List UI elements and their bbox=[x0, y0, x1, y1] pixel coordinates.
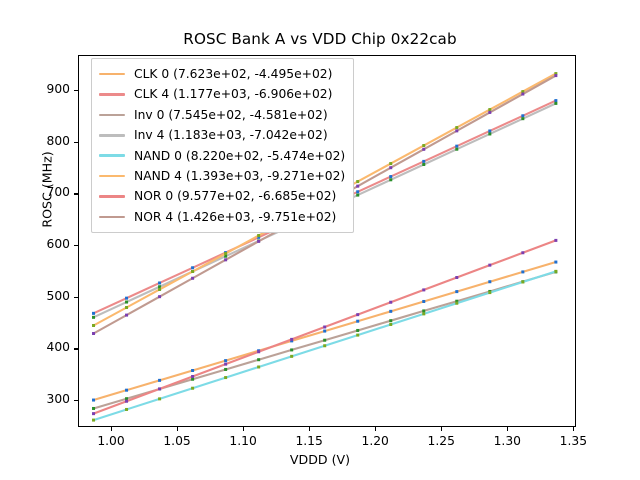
data-point-marker bbox=[389, 175, 392, 178]
data-point-marker bbox=[125, 408, 128, 411]
legend-color-swatch bbox=[99, 114, 125, 117]
data-point-marker bbox=[422, 148, 425, 151]
y-tick-label: 300 bbox=[24, 392, 70, 406]
data-point-marker bbox=[422, 160, 425, 163]
legend-color-swatch bbox=[99, 134, 125, 137]
data-point-marker bbox=[488, 108, 491, 111]
data-point-marker bbox=[191, 375, 194, 378]
data-point-marker bbox=[92, 324, 95, 327]
data-point-marker bbox=[488, 129, 491, 132]
data-point-marker bbox=[92, 407, 95, 410]
data-point-marker bbox=[389, 178, 392, 181]
legend-color-swatch bbox=[99, 195, 125, 198]
legend-item-nor-0[interactable]: NOR 0 (9.577e+02, -6.685e+02) bbox=[99, 186, 345, 206]
data-point-marker bbox=[191, 378, 194, 381]
x-tick-label: 1.15 bbox=[281, 434, 337, 448]
legend-item-inv-4[interactable]: Inv 4 (1.183e+03, -7.042e+02) bbox=[99, 125, 345, 145]
y-tick-label: 800 bbox=[24, 134, 70, 148]
x-tick-label: 1.25 bbox=[413, 434, 469, 448]
data-point-marker bbox=[92, 412, 95, 415]
data-point-marker bbox=[455, 276, 458, 279]
data-point-marker bbox=[257, 240, 260, 243]
data-point-marker bbox=[323, 339, 326, 342]
data-point-marker bbox=[323, 344, 326, 347]
data-point-marker bbox=[158, 281, 161, 284]
legend-label: NAND 0 (8.220e+02, -5.474e+02) bbox=[134, 150, 345, 162]
data-point-marker bbox=[257, 365, 260, 368]
data-point-marker bbox=[323, 325, 326, 328]
data-point-marker bbox=[224, 368, 227, 371]
data-point-marker bbox=[521, 93, 524, 96]
data-point-marker bbox=[92, 332, 95, 335]
data-point-marker bbox=[92, 312, 95, 315]
data-point-marker bbox=[422, 309, 425, 312]
y-tick-label: 500 bbox=[24, 289, 70, 303]
data-point-marker bbox=[488, 264, 491, 267]
x-tick-label: 1.10 bbox=[215, 434, 271, 448]
data-point-marker bbox=[521, 114, 524, 117]
data-point-marker bbox=[488, 111, 491, 114]
data-point-marker bbox=[422, 144, 425, 147]
legend-label: CLK 4 (1.177e+03, -6.906e+02) bbox=[134, 88, 332, 100]
data-point-marker bbox=[356, 320, 359, 323]
data-point-marker bbox=[554, 239, 557, 242]
data-point-marker bbox=[389, 162, 392, 165]
legend-item-inv-0[interactable]: Inv 0 (7.545e+02, -4.581e+02) bbox=[99, 105, 345, 125]
legend-label: NAND 4 (1.393e+03, -9.271e+02) bbox=[134, 170, 345, 182]
legend-item-clk-0[interactable]: CLK 0 (7.623e+02, -4.495e+02) bbox=[99, 64, 345, 84]
data-point-marker bbox=[422, 300, 425, 303]
data-point-marker bbox=[158, 295, 161, 298]
data-point-marker bbox=[521, 270, 524, 273]
data-point-marker bbox=[125, 297, 128, 300]
legend-item-nor-4[interactable]: NOR 4 (1.426e+03, -9.751e+02) bbox=[99, 207, 345, 227]
data-point-marker bbox=[224, 359, 227, 362]
data-point-marker bbox=[356, 334, 359, 337]
data-point-marker bbox=[125, 400, 128, 403]
data-point-marker bbox=[521, 117, 524, 120]
data-point-marker bbox=[125, 389, 128, 392]
series-nor-0 bbox=[92, 239, 557, 415]
x-axis-label: VDDD (V) bbox=[0, 452, 640, 467]
x-tick-label: 1.05 bbox=[149, 434, 205, 448]
data-point-marker bbox=[488, 280, 491, 283]
data-point-marker bbox=[488, 132, 491, 135]
legend-color-swatch bbox=[99, 216, 125, 219]
data-point-marker bbox=[356, 190, 359, 193]
legend-color-swatch bbox=[99, 175, 125, 178]
series-nand-0 bbox=[92, 270, 557, 422]
data-point-marker bbox=[554, 74, 557, 77]
data-point-marker bbox=[257, 358, 260, 361]
data-point-marker bbox=[191, 387, 194, 390]
data-point-marker bbox=[422, 163, 425, 166]
data-point-marker bbox=[455, 145, 458, 148]
y-tick-label: 400 bbox=[24, 340, 70, 354]
data-point-marker bbox=[158, 288, 161, 291]
data-point-marker bbox=[224, 258, 227, 261]
data-point-marker bbox=[125, 301, 128, 304]
data-point-marker bbox=[257, 350, 260, 353]
data-point-marker bbox=[224, 363, 227, 366]
data-point-marker bbox=[191, 266, 194, 269]
data-point-marker bbox=[389, 323, 392, 326]
data-point-marker bbox=[455, 129, 458, 132]
chart-legend: CLK 0 (7.623e+02, -4.495e+02)CLK 4 (1.17… bbox=[91, 58, 354, 233]
data-point-marker bbox=[158, 379, 161, 382]
data-point-marker bbox=[389, 310, 392, 313]
data-point-marker bbox=[290, 355, 293, 358]
data-point-marker bbox=[554, 99, 557, 102]
data-point-marker bbox=[554, 102, 557, 105]
y-tick-label: 700 bbox=[24, 185, 70, 199]
legend-label: Inv 0 (7.545e+02, -4.581e+02) bbox=[134, 109, 328, 121]
legend-label: CLK 0 (7.623e+02, -4.495e+02) bbox=[134, 68, 332, 80]
data-point-marker bbox=[290, 338, 293, 341]
data-point-marker bbox=[158, 397, 161, 400]
data-point-marker bbox=[191, 270, 194, 273]
y-tick-label: 900 bbox=[24, 82, 70, 96]
data-point-marker bbox=[488, 291, 491, 294]
data-point-marker bbox=[554, 270, 557, 273]
x-tick-label: 1.30 bbox=[479, 434, 535, 448]
data-point-marker bbox=[92, 419, 95, 422]
data-point-marker bbox=[290, 348, 293, 351]
data-point-marker bbox=[455, 126, 458, 129]
data-point-marker bbox=[356, 180, 359, 183]
legend-color-swatch bbox=[99, 154, 125, 157]
legend-color-swatch bbox=[99, 73, 125, 76]
data-point-marker bbox=[356, 313, 359, 316]
data-point-marker bbox=[422, 312, 425, 315]
data-point-marker bbox=[554, 261, 557, 264]
legend-item-nand-0[interactable]: NAND 0 (8.220e+02, -5.474e+02) bbox=[99, 146, 345, 166]
data-point-marker bbox=[191, 277, 194, 280]
data-point-marker bbox=[92, 399, 95, 402]
data-point-marker bbox=[356, 185, 359, 188]
data-point-marker bbox=[422, 288, 425, 291]
legend-label: Inv 4 (1.183e+03, -7.042e+02) bbox=[134, 129, 328, 141]
legend-item-clk-4[interactable]: CLK 4 (1.177e+03, -6.906e+02) bbox=[99, 84, 345, 104]
y-tick-label: 600 bbox=[24, 237, 70, 251]
chart-title: ROSC Bank A vs VDD Chip 0x22cab bbox=[0, 30, 640, 48]
data-point-marker bbox=[158, 387, 161, 390]
legend-item-nand-4[interactable]: NAND 4 (1.393e+03, -9.271e+02) bbox=[99, 166, 345, 186]
legend-label: NOR 0 (9.577e+02, -6.685e+02) bbox=[134, 190, 336, 202]
data-point-marker bbox=[323, 330, 326, 333]
chart-figure: ROSC Bank A vs VDD Chip 0x22cab ROSC (MH… bbox=[0, 0, 640, 480]
data-point-marker bbox=[389, 301, 392, 304]
data-point-marker bbox=[257, 234, 260, 237]
data-point-marker bbox=[389, 166, 392, 169]
data-point-marker bbox=[125, 306, 128, 309]
data-point-marker bbox=[356, 194, 359, 197]
data-point-marker bbox=[521, 251, 524, 254]
x-tick-label: 1.00 bbox=[83, 434, 139, 448]
data-point-marker bbox=[224, 252, 227, 255]
data-point-marker bbox=[356, 329, 359, 332]
data-point-marker bbox=[191, 369, 194, 372]
legend-color-swatch bbox=[99, 93, 125, 96]
data-point-marker bbox=[224, 376, 227, 379]
data-point-marker bbox=[455, 302, 458, 305]
x-tick-label: 1.20 bbox=[347, 434, 403, 448]
data-point-marker bbox=[92, 316, 95, 319]
x-tick-label: 1.35 bbox=[545, 434, 601, 448]
data-point-marker bbox=[455, 290, 458, 293]
data-point-marker bbox=[455, 148, 458, 151]
data-point-marker bbox=[521, 280, 524, 283]
data-point-marker bbox=[389, 319, 392, 322]
data-point-marker bbox=[125, 314, 128, 317]
legend-label: NOR 4 (1.426e+03, -9.751e+02) bbox=[134, 211, 336, 223]
